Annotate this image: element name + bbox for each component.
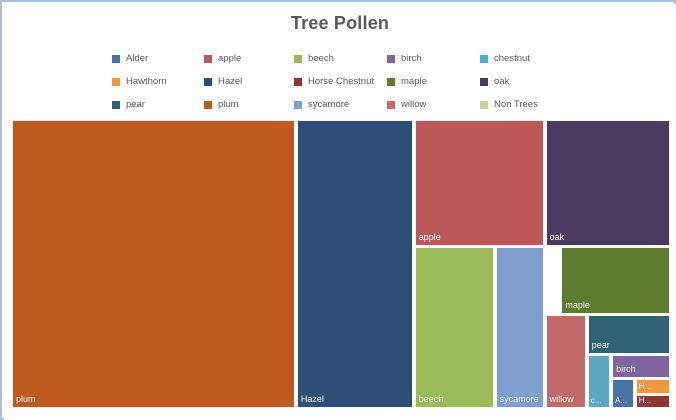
legend-swatch-icon bbox=[112, 101, 120, 109]
legend-item-hazel[interactable]: Hazel bbox=[204, 75, 242, 88]
legend-item-horse-chestnut[interactable]: Horse Chestnut bbox=[294, 75, 374, 88]
treemap-tile-beech[interactable]: beech bbox=[415, 247, 494, 408]
treemap-tile-label: oak bbox=[550, 233, 565, 243]
page-title: Tree Pollen bbox=[4, 13, 676, 34]
legend-swatch-icon bbox=[480, 78, 488, 86]
legend-item-hawthorn[interactable]: Hawthorn bbox=[112, 75, 167, 88]
legend-item-sycamore[interactable]: sycamore bbox=[294, 98, 349, 111]
legend-swatch-icon bbox=[294, 78, 302, 86]
treemap-tile-label: willow bbox=[550, 395, 574, 405]
legend-item-non-trees[interactable]: Non Trees bbox=[480, 98, 538, 111]
treemap-tile-label: Hazel bbox=[301, 395, 324, 405]
chart-plot-area: Tree Pollen Alderapplebeechbirchchestnut… bbox=[4, 4, 676, 420]
treemap-tile-label: pear bbox=[592, 341, 610, 351]
legend-item-label: apple bbox=[218, 54, 241, 64]
treemap-tile-alder[interactable]: A... bbox=[612, 379, 634, 408]
legend-item-label: Horse Chestnut bbox=[308, 77, 374, 87]
legend-swatch-icon bbox=[204, 101, 212, 109]
treemap-tile-label: beech bbox=[419, 395, 444, 405]
treemap-tile-pear[interactable]: pear bbox=[588, 315, 670, 354]
legend-item-label: chestnut bbox=[494, 54, 530, 64]
legend-item-label: birch bbox=[401, 54, 422, 64]
treemap-tile-label: H... bbox=[639, 383, 651, 392]
treemap-tile-label: apple bbox=[419, 233, 441, 243]
legend-swatch-icon bbox=[294, 101, 302, 109]
legend-item-label: Alder bbox=[126, 54, 148, 64]
legend-item-apple[interactable]: apple bbox=[204, 52, 241, 65]
legend-swatch-icon bbox=[112, 78, 120, 86]
legend-item-plum[interactable]: plum bbox=[204, 98, 239, 111]
legend-item-chestnut[interactable]: chestnut bbox=[480, 52, 530, 65]
legend-item-beech[interactable]: beech bbox=[294, 52, 334, 65]
chart-frame: Tree Pollen Alderapplebeechbirchchestnut… bbox=[0, 0, 676, 420]
treemap-tile-horse-chestnut[interactable]: H... bbox=[636, 395, 670, 408]
treemap-tile-label: c... bbox=[591, 397, 602, 406]
treemap-tile-plum[interactable]: plum bbox=[12, 120, 295, 408]
legend-item-willow[interactable]: willow bbox=[387, 98, 426, 111]
legend-swatch-icon bbox=[387, 78, 395, 86]
legend-item-alder[interactable]: Alder bbox=[112, 52, 148, 65]
legend-swatch-icon bbox=[387, 101, 395, 109]
treemap-tile-label: plum bbox=[16, 395, 36, 405]
legend-swatch-icon bbox=[480, 55, 488, 63]
legend-item-label: Hazel bbox=[218, 77, 242, 87]
legend-item-label: Hawthorn bbox=[126, 77, 167, 87]
legend-swatch-icon bbox=[112, 55, 120, 63]
treemap-tile-label: H... bbox=[639, 397, 651, 406]
legend-item-maple[interactable]: maple bbox=[387, 75, 427, 88]
treemap-tile-maple[interactable]: maple bbox=[561, 247, 670, 314]
legend-item-label: beech bbox=[308, 54, 334, 64]
treemap-container: plumHazelappleoakbeechsycamoremaplewillo… bbox=[12, 120, 670, 408]
legend-swatch-icon bbox=[204, 55, 212, 63]
treemap-tile-label: sycamore bbox=[500, 395, 539, 405]
treemap-tile-willow[interactable]: willow bbox=[546, 315, 586, 408]
legend-item-label: Non Trees bbox=[494, 100, 538, 110]
legend-swatch-icon bbox=[294, 55, 302, 63]
legend-swatch-icon bbox=[387, 55, 395, 63]
treemap-tile-hazel[interactable]: Hazel bbox=[297, 120, 413, 408]
legend-item-label: plum bbox=[218, 100, 239, 110]
treemap-tile-hawthorn[interactable]: H... bbox=[636, 379, 670, 395]
legend-item-label: maple bbox=[401, 77, 427, 87]
legend-item-pear[interactable]: pear bbox=[112, 98, 145, 111]
chart-legend: AlderapplebeechbirchchestnutHawthornHaze… bbox=[112, 52, 572, 112]
treemap-tile-birch[interactable]: birch bbox=[612, 355, 670, 378]
treemap-tile-apple[interactable]: apple bbox=[415, 120, 544, 246]
legend-item-label: pear bbox=[126, 100, 145, 110]
legend-item-label: willow bbox=[401, 100, 426, 110]
legend-item-oak[interactable]: oak bbox=[480, 75, 509, 88]
legend-item-label: sycamore bbox=[308, 100, 349, 110]
legend-swatch-icon bbox=[204, 78, 212, 86]
treemap-tile-label: maple bbox=[565, 301, 590, 311]
treemap-tile-sycamore[interactable]: sycamore bbox=[496, 247, 545, 408]
treemap-tile-label: birch bbox=[616, 365, 636, 375]
treemap-tile-chestnut[interactable]: c... bbox=[588, 355, 610, 408]
treemap-tile-oak[interactable]: oak bbox=[546, 120, 670, 246]
treemap-tile-label: A... bbox=[615, 397, 627, 406]
legend-item-label: oak bbox=[494, 77, 509, 87]
legend-item-birch[interactable]: birch bbox=[387, 52, 422, 65]
legend-swatch-icon bbox=[480, 101, 488, 109]
